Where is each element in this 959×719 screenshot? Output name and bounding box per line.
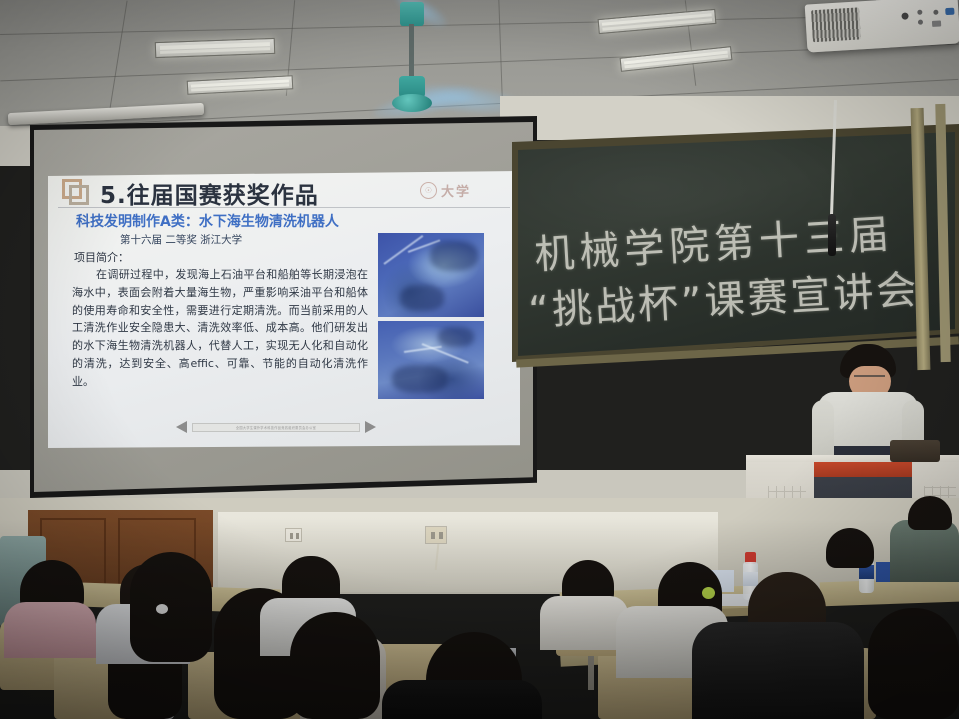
student-hair-long: [290, 612, 380, 719]
water-bottle-label: [743, 572, 758, 586]
wall-power-outlet[interactable]: [285, 528, 302, 542]
student-head: [868, 608, 959, 719]
underwater-robot-photo-top: [378, 233, 484, 317]
slide-nav-strip[interactable]: 全国大学生课外学术科技作品竞赛组织委员会办公室: [176, 421, 376, 433]
hanging-microphone[interactable]: [828, 214, 836, 256]
slide-subtitle: 科技发明制作A类：水下海生物清洗机器人: [76, 211, 339, 231]
slide-decor-square: [69, 185, 89, 205]
hair-tie: [702, 587, 715, 599]
slide-nav-caption-bar: 全国大学生课外学术科技作品竞赛组织委员会办公室: [192, 423, 360, 432]
student-torso: [4, 602, 96, 658]
fan-hub: [392, 94, 432, 112]
next-slide-icon[interactable]: [365, 421, 376, 433]
podium-object: [890, 440, 940, 462]
university-logo-watermark: ☉ 大学: [420, 181, 471, 200]
slide-award-line: 第十六届 二等奖 浙江大学: [120, 232, 242, 247]
student-hair-long: [130, 552, 212, 662]
slide-title: 5.往届国赛获奖作品: [100, 176, 319, 210]
student-torso-black: [692, 622, 864, 719]
student-torso-black: [382, 680, 542, 719]
student-head: [826, 528, 874, 568]
wall-power-outlet[interactable]: [425, 526, 447, 544]
projected-slide: 5.往届国赛获奖作品 ☉ 大学 科技发明制作A类：水下海生物清洗机器人 第十六届…: [48, 171, 520, 448]
university-seal-icon: ☉: [420, 182, 437, 199]
podium-accent-band: [814, 462, 912, 477]
university-logo-text: 大学: [441, 181, 471, 200]
slide-divider: [58, 207, 510, 208]
slide-nav-caption: 全国大学生课外学术科技作品竞赛组织委员会办公室: [236, 425, 316, 430]
fan-rod: [409, 24, 414, 78]
slide-intro-label: 项目简介：: [74, 249, 129, 265]
student-torso: [540, 596, 628, 650]
previous-slide-icon[interactable]: [176, 421, 187, 433]
hair-tie: [156, 604, 168, 614]
ceiling-projector: [805, 0, 959, 53]
underwater-robot-photo-bottom: [378, 321, 484, 399]
classroom-scene: 5.往届国赛获奖作品 ☉ 大学 科技发明制作A类：水下海生物清洗机器人 第十六届…: [0, 0, 959, 719]
presenter-glasses: [854, 375, 885, 381]
slide-body-text: 在调研过程中，发现海上石油平台和船舶等长期浸泡在海水中，表面会附着大量海生物，严…: [72, 266, 368, 391]
fan-mount: [400, 2, 424, 26]
